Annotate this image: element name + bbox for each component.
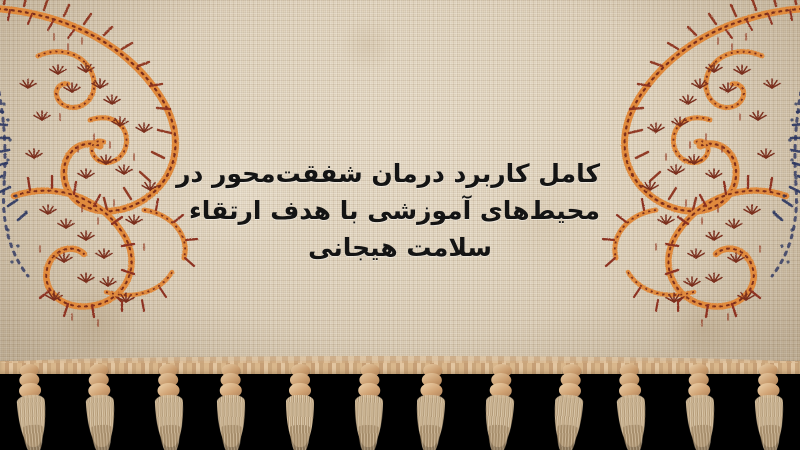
tassel [611,359,651,449]
tassel-strands [484,394,515,447]
tassel-strands [754,395,784,448]
tassel-strands [217,395,246,447]
slide-title: کامل کاربرد درمان شفقت‌محور در محیط‌های … [200,155,600,266]
tassel-strands [552,394,584,448]
tassel [413,359,450,448]
title-line-2: محیط‌های آموزشی با هدف ارتقاء [200,192,600,229]
tassel-strands [617,394,649,448]
tassel [750,359,787,448]
tassel-strands [286,395,314,447]
tassel-strands [686,394,717,447]
tassel-fringe [0,360,800,450]
tassel-strands [416,395,446,448]
tassel-strands [154,395,184,448]
title-line-3: سلامت هیجانی [200,229,600,266]
tassel [351,360,387,449]
tassel [214,360,250,449]
tassel-strands [86,394,117,447]
tassel-strands [354,395,383,447]
title-line-1: کامل کاربرد درمان شفقت‌محور در [200,155,600,192]
tassel [81,359,120,449]
tassel [549,359,589,449]
tassel [283,360,317,448]
slide-canvas: کامل کاربرد درمان شفقت‌محور در محیط‌های … [0,0,800,450]
tassel [681,359,720,449]
tassel-strands [17,394,49,448]
tassel [481,359,520,449]
tassel [11,359,51,449]
tassel [150,359,187,448]
